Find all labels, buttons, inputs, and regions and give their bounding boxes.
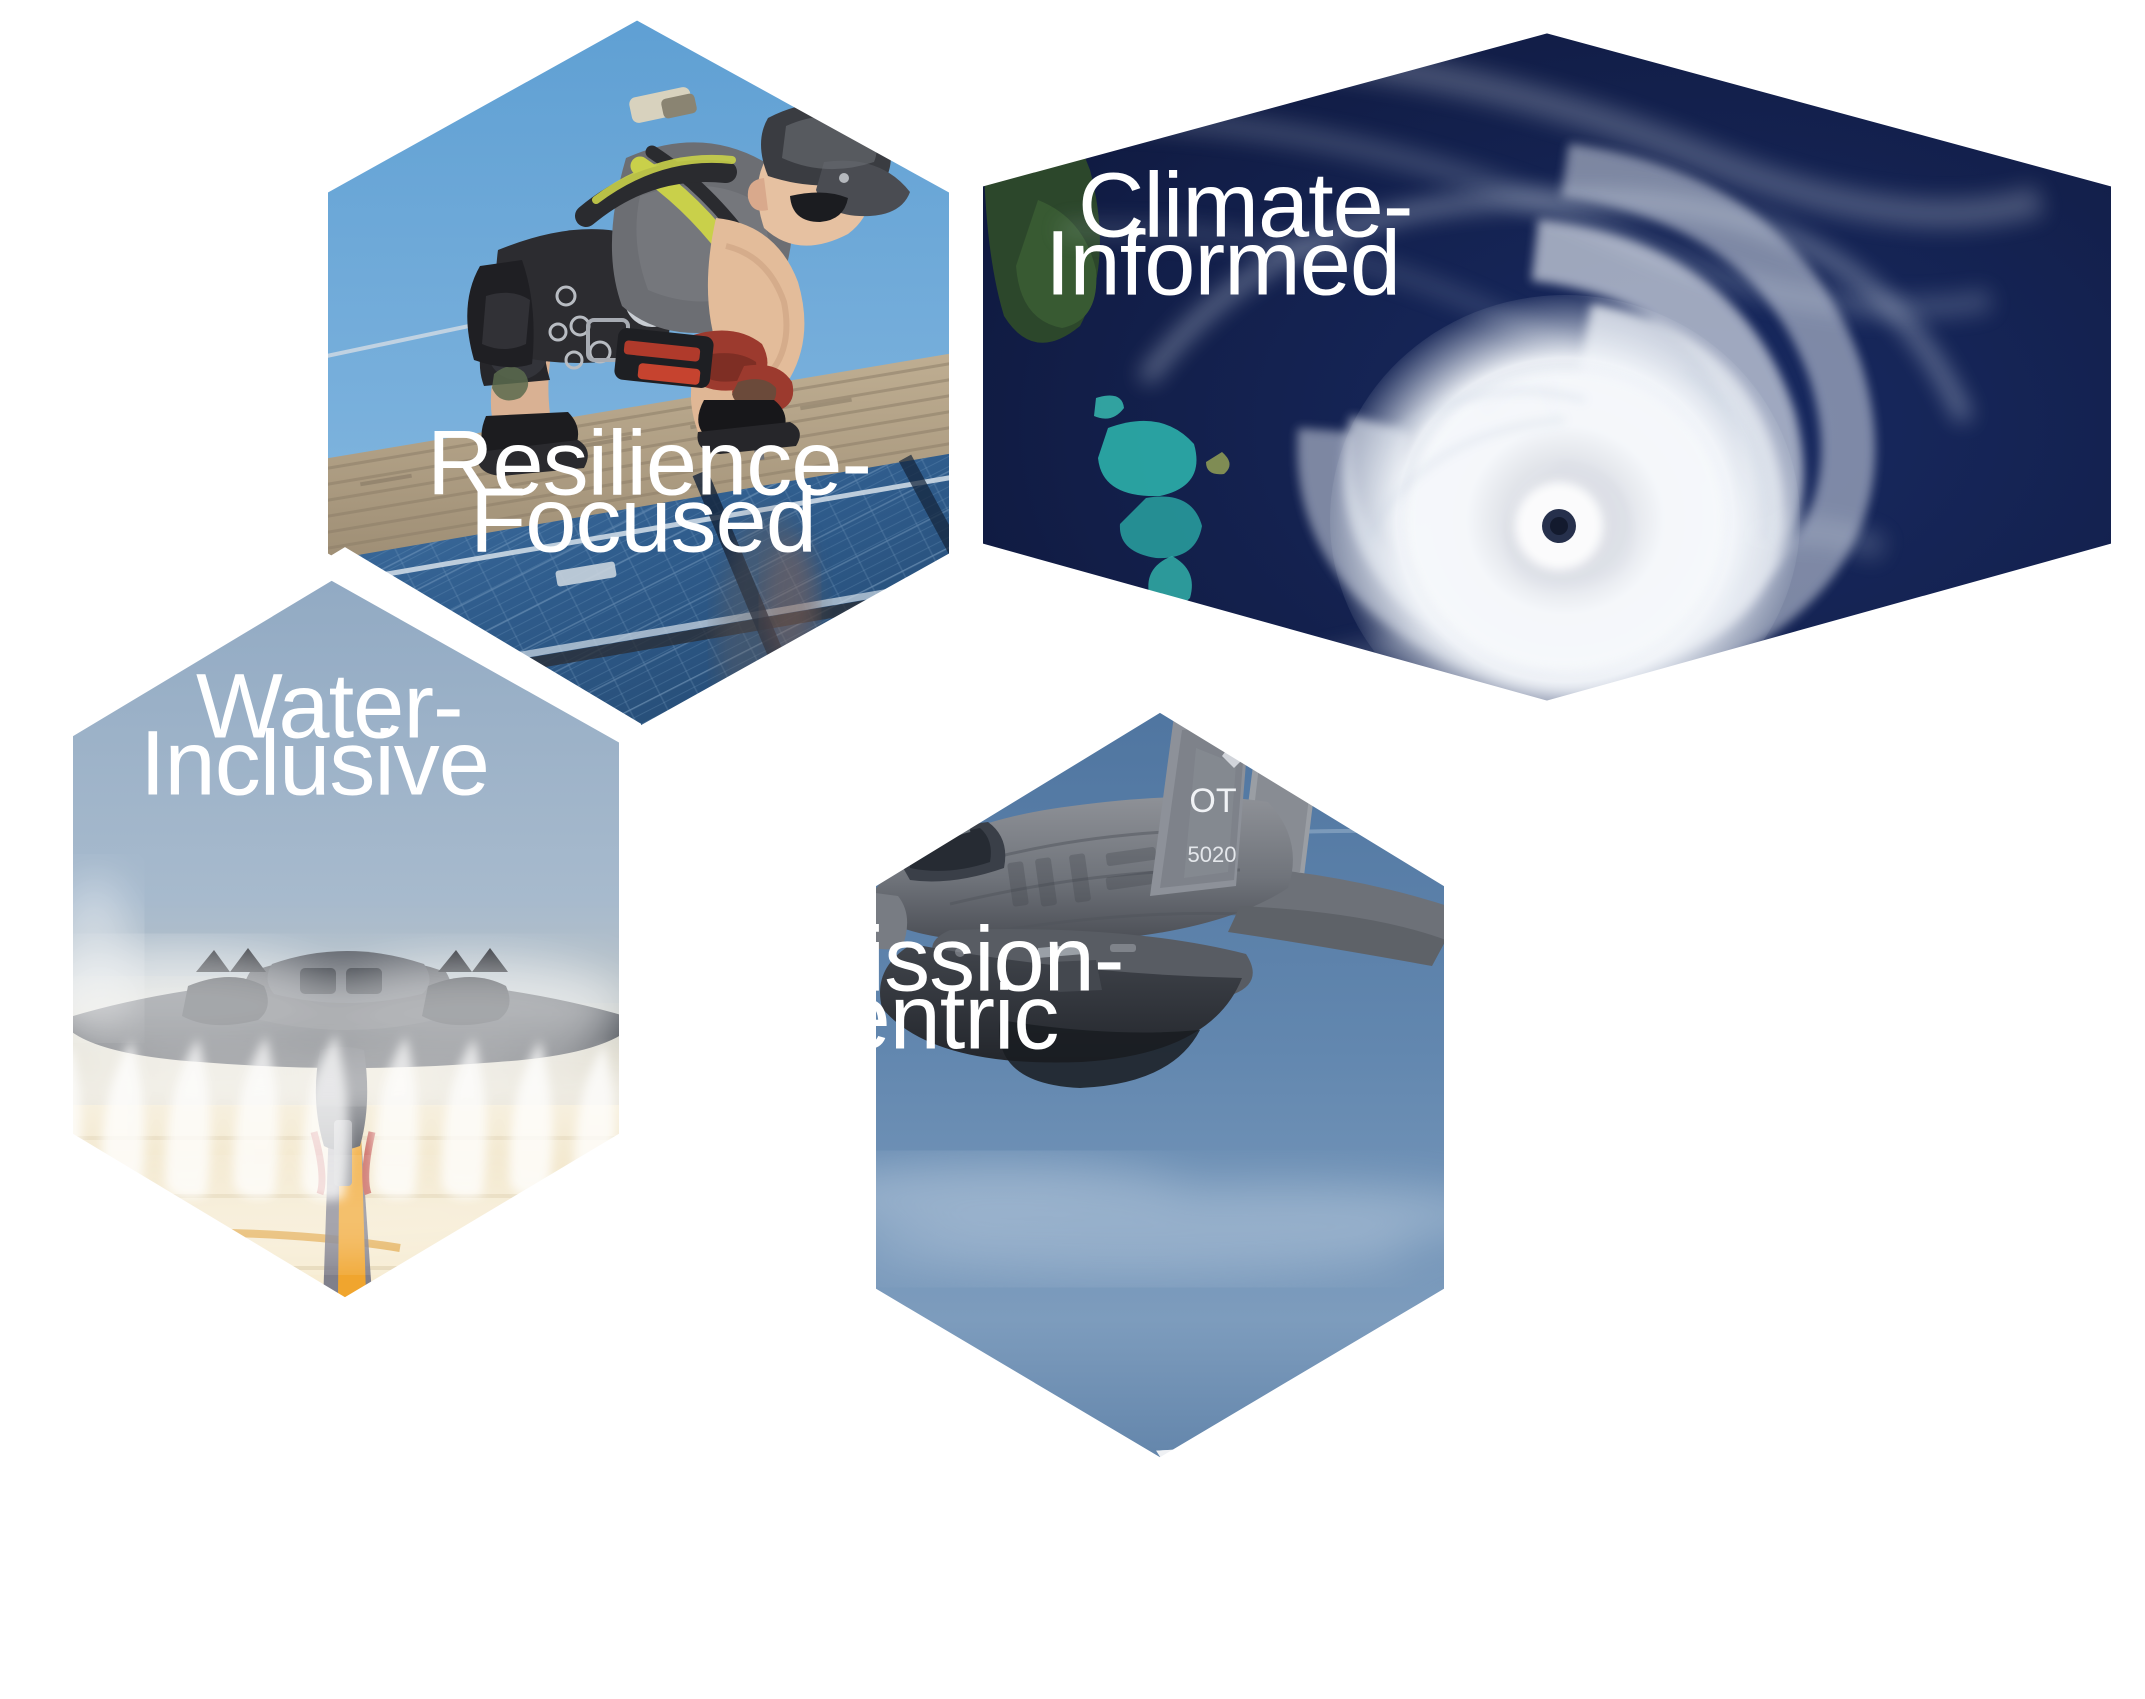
hexagon-infographic: OT 5020 <box>0 0 2145 1699</box>
jet-tail-code: OT <box>1189 782 1236 820</box>
infographic-canvas: OT 5020 <box>0 0 2145 1699</box>
label-climate-line2: Informed <box>1045 212 1400 314</box>
jet-serial-number: 5020 <box>1188 842 1237 867</box>
label-resilience-line2: Focused <box>470 469 816 571</box>
label-mission-line2: Centric <box>774 966 1058 1068</box>
label-water-line2: Inclusive <box>140 712 489 814</box>
label-resilience-focused: Resilience- Focused <box>427 412 871 571</box>
label-climate-informed: Climate- Informed <box>1045 154 1412 314</box>
